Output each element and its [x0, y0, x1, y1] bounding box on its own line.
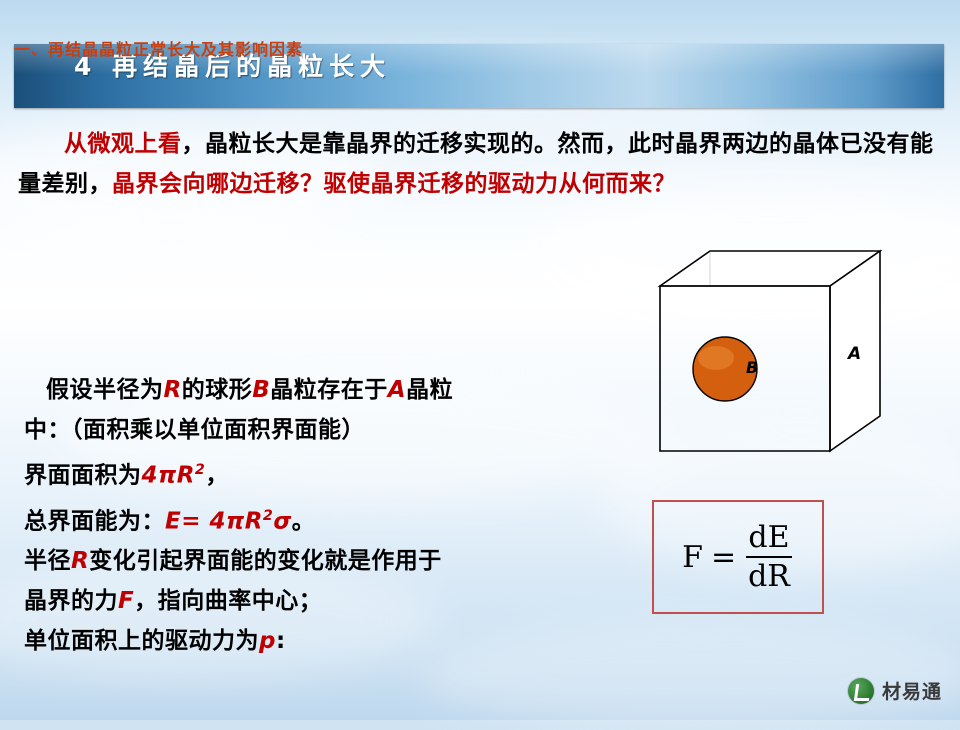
text-run: 的球形 — [182, 377, 253, 403]
section-subtitle: 一、再结晶晶粒正常长大及其影响因素 — [14, 36, 303, 60]
fraction-numerator: dE — [744, 522, 794, 554]
derivation-line-3: 界面面积为4πR2， — [24, 450, 604, 496]
symbol-B: B — [252, 377, 270, 403]
symbol-F: F — [118, 588, 134, 614]
derivation-line-4: 总界面能为：E= 4πR2σ。 — [24, 496, 604, 542]
derivation-line-7: 单位面积上的驱动力为p: — [24, 621, 604, 661]
text-run: 晶界的力 — [24, 588, 118, 614]
label-grain-A: A — [848, 344, 861, 364]
text-run: 。 — [292, 508, 316, 534]
text-run: ， — [205, 463, 229, 489]
text-run: ，指向曲率中心 — [134, 588, 299, 614]
derivation-line-1: 假设半径为R的球形B晶粒存在于A晶粒 — [24, 370, 604, 410]
fraction: dE dR — [744, 522, 794, 593]
paragraph-intro: 从微观上看，晶粒长大是靠晶界的迁移实现的。然而，此时晶界两边的晶体已没有能量差别… — [18, 124, 948, 204]
text-run: 晶粒 — [406, 377, 453, 403]
text-run: 晶粒存在于 — [270, 377, 388, 403]
symbol-A: A — [388, 377, 406, 403]
text-run: 半径 — [24, 548, 71, 574]
formula-box: F = dE dR — [652, 500, 824, 614]
symbol-sigma: σ — [273, 508, 291, 534]
symbol-E: E= — [165, 508, 201, 534]
exponent: 2 — [263, 508, 273, 524]
text-run: : — [276, 628, 286, 654]
cube-figure: A B — [650, 246, 890, 466]
paragraph-intro-seg4: 晶界会向哪边迁移？驱使晶界迁 — [112, 171, 441, 197]
derivation-line-2: 中：（面积乘以单位面积界面能） — [24, 410, 604, 450]
paragraph-intro-seg1: 从微观上看 — [64, 131, 182, 157]
text-run: 界面面积为 — [24, 463, 142, 489]
derivation-line-5: 半径R变化引起界面能的变化就是作用于 — [24, 541, 604, 581]
exponent: 2 — [195, 462, 205, 478]
fraction-denominator: dR — [744, 561, 794, 593]
formula-content: F = dE dR — [654, 502, 822, 612]
symbol-p: p — [259, 628, 276, 654]
slide-canvas: 4 再结晶后的晶粒长大 一、再结晶晶粒正常长大及其影响因素 从微观上看，晶粒长大… — [0, 0, 960, 720]
paragraph-intro-seg5: 移的驱动力从何而来？ — [441, 171, 676, 197]
formula-lhs: F — [682, 540, 703, 575]
expression-energy: 4πR — [210, 508, 263, 534]
text-run: 变化引起界面能的变化就是作用于 — [89, 548, 442, 574]
text-run: ； — [299, 588, 323, 614]
symbol-R: R — [164, 377, 182, 403]
leaf-circle-icon — [848, 678, 874, 704]
symbol-R: R — [71, 548, 89, 574]
fraction-bar — [746, 556, 792, 558]
paragraph-derivation: 假设半径为R的球形B晶粒存在于A晶粒 中：（面积乘以单位面积界面能） 界面面积为… — [24, 370, 604, 661]
formula-equals: = — [711, 540, 736, 575]
derivation-line-6: 晶界的力F，指向曲率中心； — [24, 581, 604, 621]
watermark-label: 材易通 — [882, 677, 942, 704]
text-run: 假设半径为 — [46, 377, 164, 403]
text-run: 单位面积上的驱动力为 — [24, 628, 259, 654]
watermark: 材易通 — [848, 677, 942, 704]
expression-area: 4πR — [142, 463, 195, 489]
paragraph-intro-seg2: ，晶粒长大是靠晶界的迁移实现的。然而，此时晶 — [182, 131, 699, 157]
text-run: 总界面能为： — [24, 508, 165, 534]
label-grain-B: B — [746, 358, 758, 377]
